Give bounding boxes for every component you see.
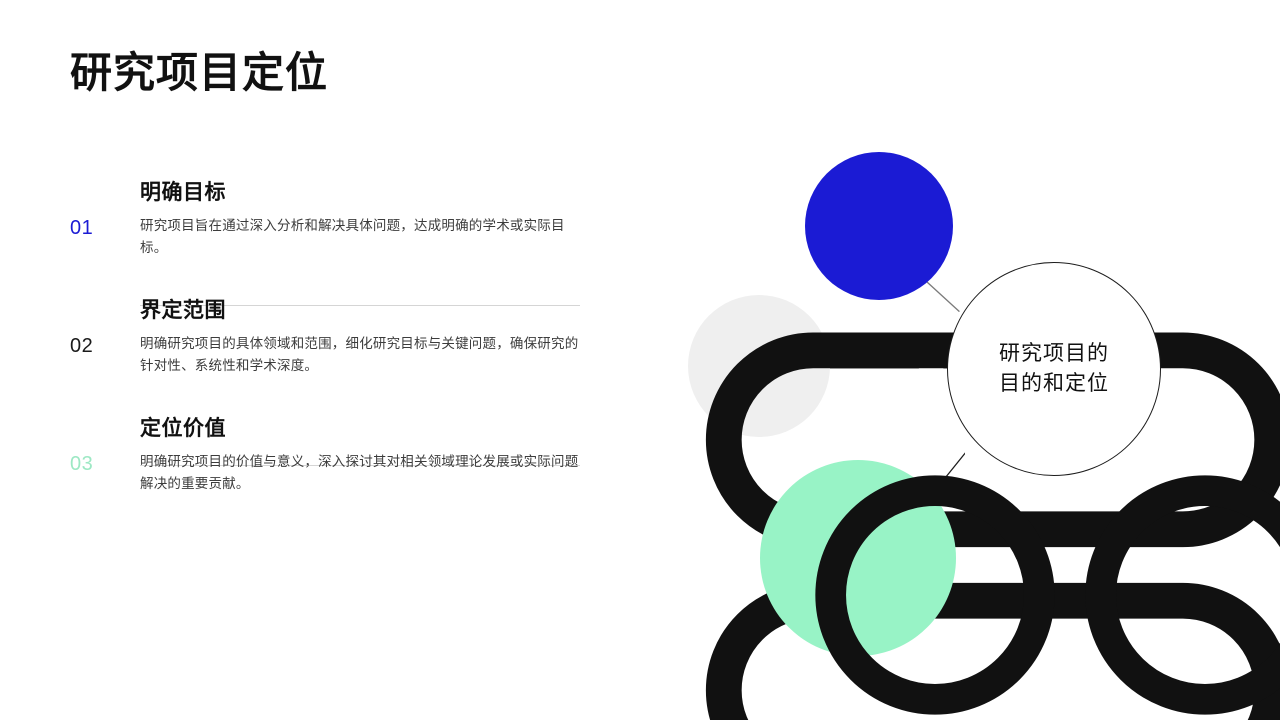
feature-list: 01 明确目标 研究项目旨在通过深入分析和解决具体问题，达成明确的学术或实际目标…	[70, 180, 600, 534]
list-item-body: 界定范围 明确研究项目的具体领域和范围，细化研究目标与关键问题，确保研究的针对性…	[140, 298, 600, 377]
list-item-description: 研究项目旨在通过深入分析和解决具体问题，达成明确的学术或实际目标。	[140, 215, 580, 259]
list-item[interactable]: 01 明确目标 研究项目旨在通过深入分析和解决具体问题，达成明确的学术或实际目标…	[70, 180, 600, 298]
list-item-body: 明确目标 研究项目旨在通过深入分析和解决具体问题，达成明确的学术或实际目标。	[140, 180, 600, 259]
list-item-heading: 定位价值	[140, 416, 600, 442]
page-title: 研究项目定位	[70, 48, 328, 98]
list-item-heading: 界定范围	[140, 298, 600, 324]
list-item[interactable]: 03 定位价值 明确研究项目的价值与意义，深入探讨其对相关领域理论发展或实际问题…	[70, 416, 600, 534]
list-item-index: 01	[70, 180, 140, 238]
list-item-heading: 明确目标	[140, 180, 600, 206]
list-item-body: 定位价值 明确研究项目的价值与意义，深入探讨其对相关领域理论发展或实际问题解决的…	[140, 416, 600, 495]
slide-canvas: 研究项目定位 01 明确目标 研究项目旨在通过深入分析和解决具体问题，达成明确的…	[0, 0, 1280, 720]
diagram-node-scope[interactable]	[688, 295, 830, 437]
list-item-description: 明确研究项目的价值与意义，深入探讨其对相关领域理论发展或实际问题解决的重要贡献。	[140, 451, 580, 495]
list-item-index: 02	[70, 298, 140, 356]
diagram-node-value[interactable]	[760, 460, 956, 656]
diagram-center-label: 研究项目的 目的和定位	[999, 339, 1109, 400]
diagram-node-center[interactable]: 研究项目的 目的和定位	[947, 262, 1161, 476]
grid-shapes-icon	[760, 460, 1280, 720]
concept-diagram: 研究项目的 目的和定位	[655, 120, 1275, 660]
list-item[interactable]: 02 界定范围 明确研究项目的具体领域和范围，细化研究目标与关键问题，确保研究的…	[70, 298, 600, 416]
diagram-node-objective[interactable]	[805, 152, 953, 300]
list-item-index: 03	[70, 416, 140, 474]
list-item-description: 明确研究项目的具体领域和范围，细化研究目标与关键问题，确保研究的针对性、系统性和…	[140, 333, 580, 377]
